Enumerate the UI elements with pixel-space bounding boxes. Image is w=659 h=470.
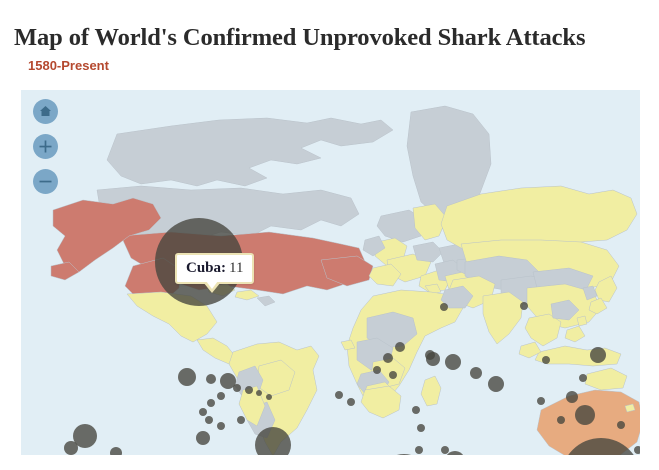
bubble-ghana xyxy=(335,391,343,399)
bubble-spain xyxy=(383,353,393,363)
bubble-panama xyxy=(217,422,225,430)
bubble-tanzania xyxy=(417,424,425,432)
page-title: Map of World's Confirmed Unprovoked Shar… xyxy=(14,24,585,52)
tooltip-country-name: Cuba xyxy=(186,260,221,276)
bubble-mozambique xyxy=(415,446,423,454)
bubble-french-polynesia xyxy=(64,441,78,455)
bubble-china xyxy=(537,397,545,405)
world-map-svg: .land { stroke:#b9c2ca; stroke-width:0.5… xyxy=(21,90,640,455)
page-subtitle: 1580-Present xyxy=(28,58,109,73)
bubble-cuba xyxy=(206,374,216,384)
bubble-finland xyxy=(440,303,448,311)
bubble-japan xyxy=(590,347,606,363)
bubble-egypt xyxy=(445,354,461,370)
shark-attack-map-page: Map of World's Confirmed Unprovoked Shar… xyxy=(0,0,659,470)
map-controls[interactable] xyxy=(33,99,61,204)
bubble-india xyxy=(488,376,504,392)
bubble-senegal xyxy=(373,366,381,374)
tooltip-value: 11 xyxy=(226,260,243,276)
bubble-madagascar xyxy=(441,446,449,454)
bubble-thailand xyxy=(542,356,550,364)
bubble-france xyxy=(395,342,405,352)
bubble-croatia xyxy=(425,350,435,360)
bubble-mexico xyxy=(178,368,196,386)
bubble-indonesia xyxy=(557,416,565,424)
bubble-ecuador xyxy=(196,431,210,445)
bubble-costa-rica xyxy=(205,416,213,424)
bubble-nicaragua xyxy=(199,408,207,416)
world-map-canvas[interactable]: .land { stroke:#b9c2ca; stroke-width:0.5… xyxy=(21,90,640,455)
bubble-malaysia xyxy=(579,374,587,382)
bubble-russia xyxy=(520,302,528,310)
plus-icon xyxy=(33,134,58,159)
bubble-haiti xyxy=(245,386,253,394)
minus-icon xyxy=(33,169,58,194)
map-container[interactable]: .land { stroke:#b9c2ca; stroke-width:0.5… xyxy=(21,90,640,455)
bubble-solomon-islands xyxy=(617,421,625,429)
bubble-belize xyxy=(217,392,225,400)
bubble-lesser-antilles xyxy=(266,394,272,400)
map-tooltip: Cuba:11 xyxy=(175,253,254,284)
map-zoom-out-button[interactable] xyxy=(33,169,58,194)
bubble-honduras xyxy=(207,399,215,407)
map-home-button[interactable] xyxy=(33,99,58,124)
bubble-jamaica xyxy=(233,384,241,392)
bubble-nigeria xyxy=(347,398,355,406)
bubble-philippines xyxy=(566,391,578,403)
bubble-papua-new-guinea xyxy=(575,405,595,425)
map-zoom-in-button[interactable] xyxy=(33,134,58,159)
bubble-puerto-rico xyxy=(256,390,262,396)
tooltip-arrow-inner xyxy=(206,281,218,289)
bubble-kenya xyxy=(412,406,420,414)
bubble-iran xyxy=(470,367,482,379)
bubble-venezuela xyxy=(237,416,245,424)
bubble-sudan xyxy=(389,371,397,379)
home-icon xyxy=(33,99,58,124)
